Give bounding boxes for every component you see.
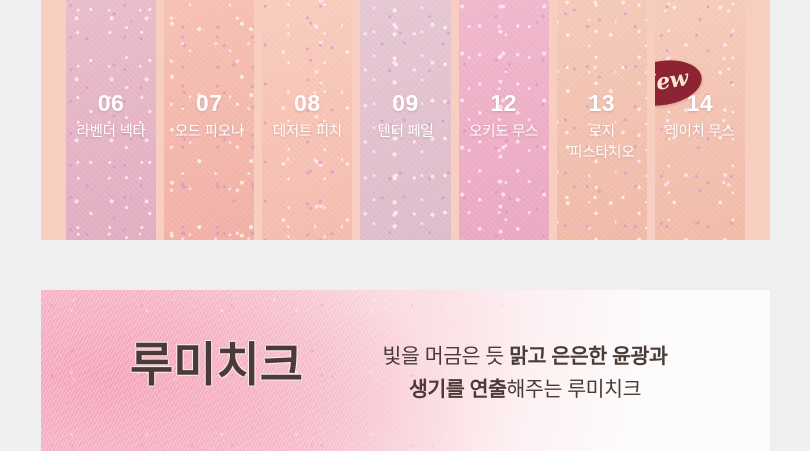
strip-left-margin: [41, 0, 66, 240]
brand-description-line-2: 생기를 연출해주는 루미치크: [340, 373, 710, 406]
swatch-07[interactable]: 07 오드 피오니: [164, 0, 254, 240]
desc-l1-bold: 맑고 은은한 윤광과: [509, 345, 667, 368]
swatch-12-glitter: [459, 0, 549, 240]
swatch-06[interactable]: 06 라벤더 넥타: [66, 0, 156, 240]
swatch-06-glitter: [66, 0, 156, 240]
swatch-14-glitter: [655, 0, 745, 240]
brand-title: 루미치크: [130, 341, 303, 388]
strip-right-margin: [745, 0, 770, 240]
swatch-separator: [352, 0, 360, 240]
swatch-09[interactable]: 09 텐더 페일: [360, 0, 450, 240]
brand-description-line-1: 빛을 머금은 듯 맑고 은은한 윤광과: [340, 340, 710, 373]
swatch-separator: [254, 0, 262, 240]
swatch-separator: [451, 0, 459, 240]
swatch-14[interactable]: New 14 레이치 무스: [655, 0, 745, 240]
swatch-12[interactable]: 12 오키드 무스: [459, 0, 549, 240]
swatch-09-glitter: [360, 0, 450, 240]
swatch-separator: [549, 0, 557, 240]
brand-description: 빛을 머금은 듯 맑고 은은한 윤광과 생기를 연출해주는 루미치크: [340, 340, 710, 406]
swatch-13-glitter: [557, 0, 647, 240]
swatch-07-glitter: [164, 0, 254, 240]
desc-l2-normal: 해주는 루미치크: [507, 378, 642, 401]
swatch-separator: [647, 0, 655, 240]
swatch-08-glitter: [262, 0, 352, 240]
swatch-08[interactable]: 08 데저트 피치: [262, 0, 352, 240]
swatch-separator: [156, 0, 164, 240]
shade-swatch-strip: 06 라벤더 넥타 07 오드 피오니 08 데저트 피치 09 텐더 페일: [41, 0, 770, 240]
desc-l1-normal: 빛을 머금은 듯: [383, 345, 510, 368]
swatch-13[interactable]: 13 로지 피스타치오: [557, 0, 647, 240]
desc-l2-bold: 생기를 연출: [409, 378, 507, 401]
